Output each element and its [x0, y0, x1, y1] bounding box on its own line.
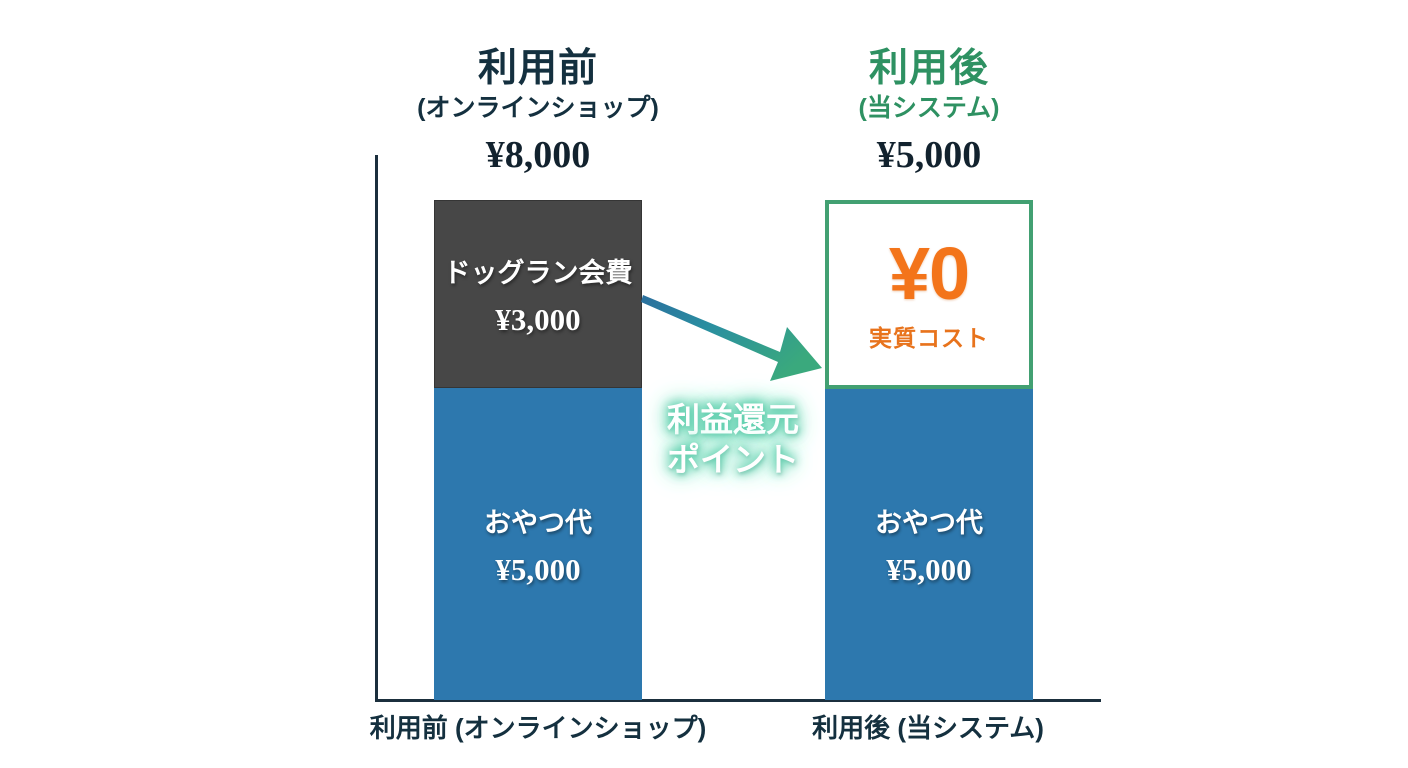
profit-return-annotation-line1: 利益還元: [640, 400, 826, 440]
column-header-before-subtitle: (オンラインショップ): [378, 95, 698, 123]
y-axis-line: [375, 155, 378, 701]
bar-segment-treats-before-label: おやつ代: [484, 501, 592, 540]
column-header-after-subtitle: (当システム): [772, 95, 1086, 123]
bar-segment-treats-before: おやつ代 ¥5,000: [434, 388, 642, 700]
x-tick-label-before: 利用前 (オンラインショップ): [338, 708, 738, 745]
bar-segment-treats-after-amount: ¥5,000: [886, 552, 971, 588]
chart-canvas: 利用前 (オンラインショップ) ¥8,000 利用後 (当システム) ¥5,00…: [0, 0, 1408, 768]
profit-return-arrow-icon: [630, 280, 830, 395]
profit-return-annotation-line2: ポイント: [640, 440, 826, 480]
bar-segment-treats-after: おやつ代 ¥5,000: [825, 389, 1033, 700]
bar-segment-membership-fee-label: ドッグラン会費: [444, 251, 633, 290]
column-header-before-total: ¥8,000: [378, 135, 698, 177]
column-header-before-title: 利用前: [378, 48, 698, 91]
bar-segment-treats-before-amount: ¥5,000: [495, 552, 580, 588]
x-tick-label-after: 利用後 (当システム): [728, 708, 1128, 745]
bar-after: ¥0 実質コスト おやつ代 ¥5,000: [825, 200, 1033, 700]
column-header-after-title: 利用後: [772, 48, 1086, 91]
zero-cost-caption: 実質コスト: [869, 319, 989, 353]
column-header-before: 利用前 (オンラインショップ) ¥8,000: [378, 48, 698, 177]
profit-return-annotation: 利益還元 ポイント: [640, 400, 826, 481]
bar-before: ドッグラン会費 ¥3,000 おやつ代 ¥5,000: [434, 200, 642, 700]
bar-segment-membership-fee-amount: ¥3,000: [495, 302, 580, 338]
column-header-after: 利用後 (当システム) ¥5,000: [772, 48, 1086, 177]
zero-cost-highlight-box: ¥0 実質コスト: [825, 200, 1033, 389]
bar-segment-membership-fee: ドッグラン会費 ¥3,000: [434, 200, 642, 388]
bar-segment-treats-after-label: おやつ代: [875, 501, 983, 540]
zero-cost-amount: ¥0: [889, 237, 969, 311]
column-header-after-total: ¥5,000: [772, 135, 1086, 177]
